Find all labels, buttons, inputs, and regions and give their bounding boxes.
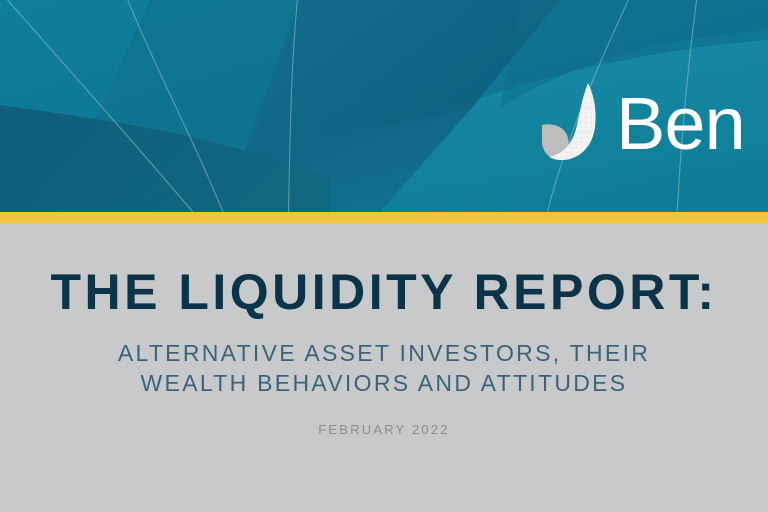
gold-divider-rule — [0, 212, 768, 223]
header-banner: Ben — [0, 0, 768, 212]
publication-date: FEBRUARY 2022 — [0, 421, 768, 439]
page-subtitle-line-2: WEALTH BEHAVIORS AND ATTITUDES — [0, 368, 768, 398]
cover-title-block: THE LIQUIDITY REPORT: ALTERNATIVE ASSET … — [0, 223, 768, 512]
page-subtitle: ALTERNATIVE ASSET INVESTORS, THEIR WEALT… — [0, 338, 768, 398]
page-title: THE LIQUIDITY REPORT: — [0, 265, 768, 319]
ben-leaf-logo-icon — [540, 81, 602, 167]
page-subtitle-line-1: ALTERNATIVE ASSET INVESTORS, THEIR — [0, 338, 768, 368]
brand-wordmark: Ben — [616, 87, 745, 161]
brand-logo: Ben — [540, 78, 745, 170]
report-cover-page: Ben THE LIQUIDITY REPORT: ALTERNATIVE AS… — [0, 0, 768, 512]
